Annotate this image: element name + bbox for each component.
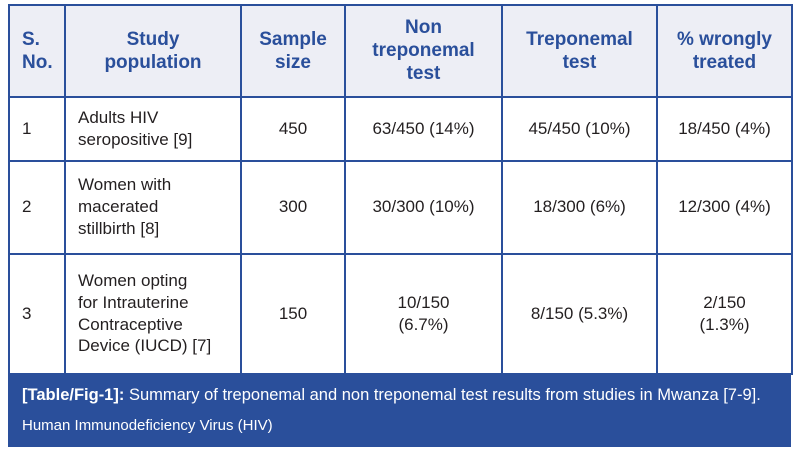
column-header-sample-size-line1: Sample <box>246 28 340 51</box>
cell-sno: 3 <box>9 254 65 374</box>
cell-treponemal: 18/300 (6%) <box>502 161 657 254</box>
caption-abbreviation-note: Human Immunodeficiency Virus (HIV) <box>22 416 777 436</box>
column-header-sno-line1: S. <box>22 28 60 51</box>
cell-sample-size: 450 <box>241 97 345 161</box>
cell-study-population-line2: macerated <box>78 196 236 218</box>
column-header-treponemal-test: Treponemal test <box>502 5 657 97</box>
table-row: 2 Women with macerated stillbirth [8] 30… <box>9 161 792 254</box>
table-figure: S. No. Study population Sample size Non … <box>0 0 799 469</box>
cell-sample-size: 150 <box>241 254 345 374</box>
table-header-row: S. No. Study population Sample size Non … <box>9 5 792 97</box>
cell-wrongly-treated-line2: (1.3%) <box>664 314 785 336</box>
table-row: 3 Women opting for Intrauterine Contrace… <box>9 254 792 374</box>
cell-non-treponemal-line2: (6.7%) <box>352 314 495 336</box>
cell-study-population-line3: stillbirth [8] <box>78 218 236 240</box>
cell-study-population-line3: Contraceptive <box>78 314 236 336</box>
cell-non-treponemal: 63/450 (14%) <box>345 97 502 161</box>
caption-main-text: [Table/Fig-1]: Summary of treponemal and… <box>22 384 777 407</box>
cell-study-population-line1: Women opting <box>78 270 236 292</box>
cell-study-population-line1: Women with <box>78 174 236 196</box>
column-header-non-treponemal-test-line1: Non <box>350 16 497 39</box>
cell-wrongly-treated: 12/300 (4%) <box>657 161 792 254</box>
column-header-non-treponemal-test-line2: treponemal <box>350 39 497 62</box>
cell-sno: 1 <box>9 97 65 161</box>
column-header-sample-size-line2: size <box>246 51 340 74</box>
table-header: S. No. Study population Sample size Non … <box>9 5 792 97</box>
cell-treponemal: 8/150 (5.3%) <box>502 254 657 374</box>
column-header-non-treponemal-test: Non treponemal test <box>345 5 502 97</box>
caption-tag: [Table/Fig-1]: <box>22 386 124 404</box>
column-header-study-population-line2: population <box>70 51 236 74</box>
cell-study-population-line2: for Intrauterine <box>78 292 236 314</box>
cell-study-population-line1: Adults HIV <box>78 107 236 129</box>
cell-non-treponemal: 10/150 (6.7%) <box>345 254 502 374</box>
cell-study-population-line2: seropositive [9] <box>78 129 236 151</box>
column-header-non-treponemal-test-line3: test <box>350 62 497 85</box>
cell-non-treponemal: 30/300 (10%) <box>345 161 502 254</box>
cell-study-population: Women opting for Intrauterine Contracept… <box>65 254 241 374</box>
cell-sample-size: 300 <box>241 161 345 254</box>
column-header-wrongly-treated: % wrongly treated <box>657 5 792 97</box>
results-table: S. No. Study population Sample size Non … <box>8 4 793 375</box>
column-header-wrongly-treated-line1: % wrongly <box>662 28 787 51</box>
cell-wrongly-treated: 2/150 (1.3%) <box>657 254 792 374</box>
column-header-treponemal-test-line2: test <box>507 51 652 74</box>
cell-non-treponemal-line1: 10/150 <box>352 292 495 314</box>
column-header-study-population: Study population <box>65 5 241 97</box>
column-header-sno: S. No. <box>9 5 65 97</box>
table-row: 1 Adults HIV seropositive [9] 450 63/450… <box>9 97 792 161</box>
column-header-sample-size: Sample size <box>241 5 345 97</box>
column-header-sno-line2: No. <box>22 51 60 74</box>
cell-treponemal: 45/450 (10%) <box>502 97 657 161</box>
table-body: 1 Adults HIV seropositive [9] 450 63/450… <box>9 97 792 374</box>
caption-body: Summary of treponemal and non treponemal… <box>129 386 761 404</box>
cell-study-population: Adults HIV seropositive [9] <box>65 97 241 161</box>
column-header-treponemal-test-line1: Treponemal <box>507 28 652 51</box>
cell-study-population-line4: Device (IUCD) [7] <box>78 335 236 357</box>
figure-caption: [Table/Fig-1]: Summary of treponemal and… <box>8 375 791 447</box>
cell-wrongly-treated: 18/450 (4%) <box>657 97 792 161</box>
cell-study-population: Women with macerated stillbirth [8] <box>65 161 241 254</box>
cell-sno: 2 <box>9 161 65 254</box>
column-header-wrongly-treated-line2: treated <box>662 51 787 74</box>
column-header-study-population-line1: Study <box>70 28 236 51</box>
cell-wrongly-treated-line1: 2/150 <box>664 292 785 314</box>
